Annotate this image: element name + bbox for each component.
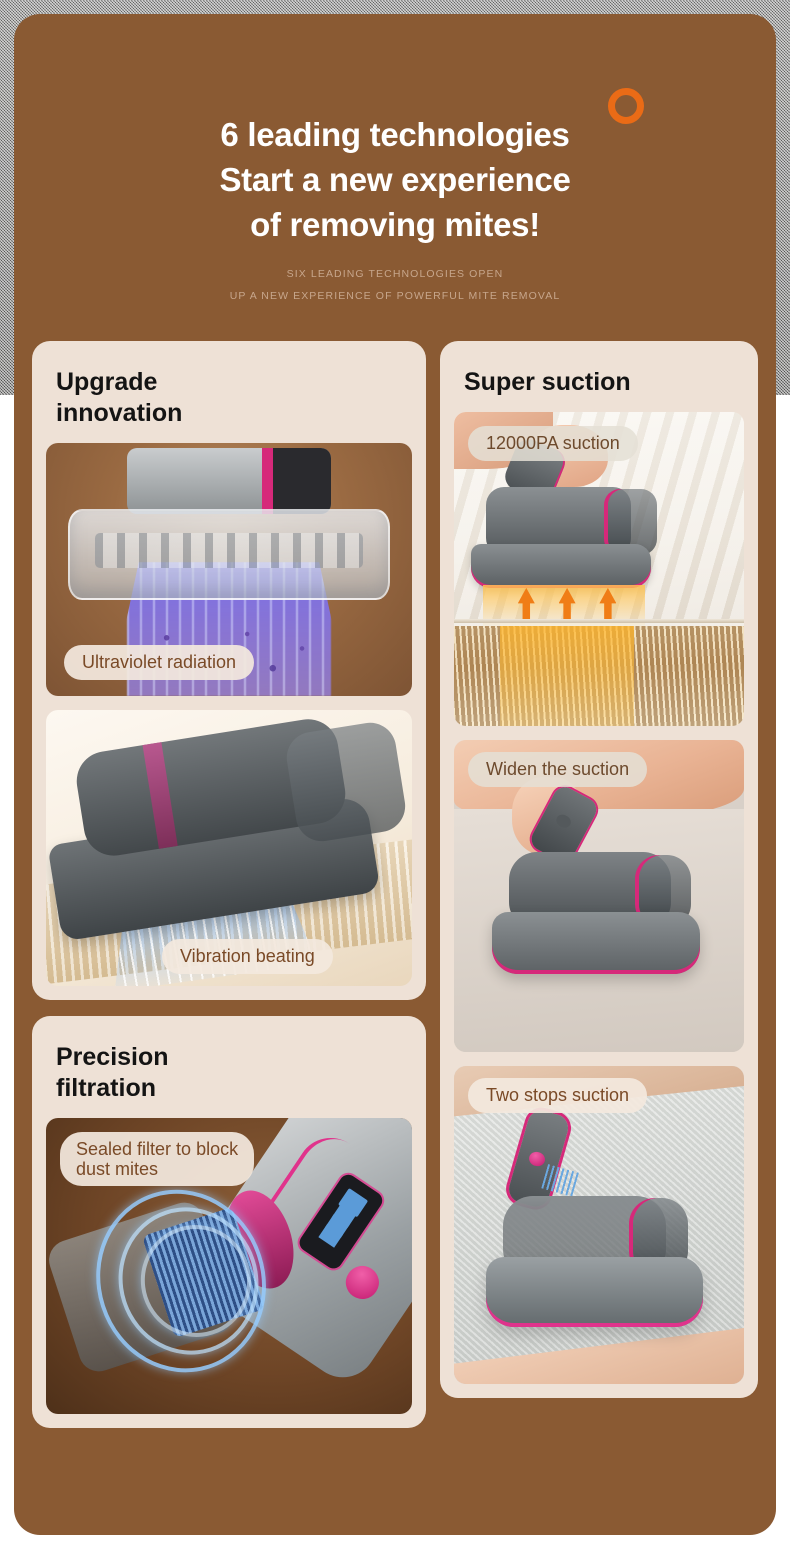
left-column: Upgrade innovation Ultraviolet radiation (32, 341, 426, 1428)
vacuum-base-plate (471, 544, 651, 588)
panel-title-super-suction: Super suction (454, 355, 744, 412)
vacuum-base-plate (486, 1257, 704, 1327)
headline-line-1: 6 leading technologies (14, 112, 776, 157)
headline-line-3: of removing mites! (14, 202, 776, 247)
subtitle-line-1: SIX LEADING TECHNOLOGIES OPEN (14, 263, 776, 285)
shot-12000pa-suction[interactable]: 12000PA suction (454, 412, 744, 726)
header: 6 leading technologies Start a new exper… (14, 14, 776, 307)
panel-precision-filtration: Precision filtration (32, 1016, 426, 1428)
panel-title-precision-line2: filtration (56, 1073, 408, 1104)
mattress-fiber-cutaway (454, 626, 744, 726)
right-column: Super suction (440, 341, 758, 1428)
panel-super-suction: Super suction (440, 341, 758, 1398)
cutaway-seam (454, 619, 744, 623)
label-widen-the-suction: Widen the suction (468, 752, 647, 787)
up-arrow-icon (559, 588, 576, 623)
subtitle: SIX LEADING TECHNOLOGIES OPEN UP A NEW E… (14, 263, 776, 307)
transparent-vacuum-head (68, 509, 390, 600)
shot-two-stops-suction[interactable]: Two stops suction (454, 1066, 744, 1384)
vacuum-body (127, 448, 332, 514)
panel-title-precision: Precision filtration (46, 1030, 412, 1118)
infographic-page: 6 leading technologies Start a new exper… (0, 0, 790, 1563)
suction-arrows (518, 588, 617, 623)
brand-card: 6 leading technologies Start a new exper… (14, 14, 776, 1535)
panel-title-precision-line1: Precision (56, 1042, 408, 1073)
shot-sealed-filter[interactable]: Sealed filter to block dust mites (46, 1118, 412, 1414)
headline-line-2: Start a new experience (14, 157, 776, 202)
shot-ultraviolet-radiation[interactable]: Ultraviolet radiation (46, 443, 412, 696)
up-arrow-icon (518, 588, 535, 623)
page-title: 6 leading technologies Start a new exper… (14, 112, 776, 247)
shot-vibration-beating[interactable]: Vibration beating (46, 710, 412, 986)
label-sealed-filter: Sealed filter to block dust mites (60, 1132, 254, 1186)
label-12000pa-suction: 12000PA suction (468, 426, 638, 461)
label-vibration-beating: Vibration beating (162, 939, 333, 974)
panel-upgrade-innovation: Upgrade innovation Ultraviolet radiation (32, 341, 426, 1000)
up-arrow-icon (599, 588, 616, 623)
label-ultraviolet-radiation: Ultraviolet radiation (64, 645, 254, 680)
dust-tank (283, 719, 409, 845)
subtitle-line-2: UP A NEW EXPERIENCE OF POWERFUL MITE REM… (14, 285, 776, 307)
shot-widen-the-suction[interactable]: Widen the suction (454, 740, 744, 1052)
panel-title-upgrade: Upgrade innovation (46, 355, 412, 443)
label-two-stops-suction: Two stops suction (468, 1078, 647, 1113)
panel-title-upgrade-line2: innovation (56, 398, 408, 429)
label-sealed-filter-line1: Sealed filter to block (76, 1139, 238, 1159)
label-sealed-filter-line2: dust mites (76, 1159, 158, 1179)
feature-grid: Upgrade innovation Ultraviolet radiation (14, 307, 776, 1446)
orange-ring-icon (608, 88, 644, 124)
panel-title-upgrade-line1: Upgrade (56, 367, 408, 398)
vacuum-base-plate (492, 912, 701, 974)
